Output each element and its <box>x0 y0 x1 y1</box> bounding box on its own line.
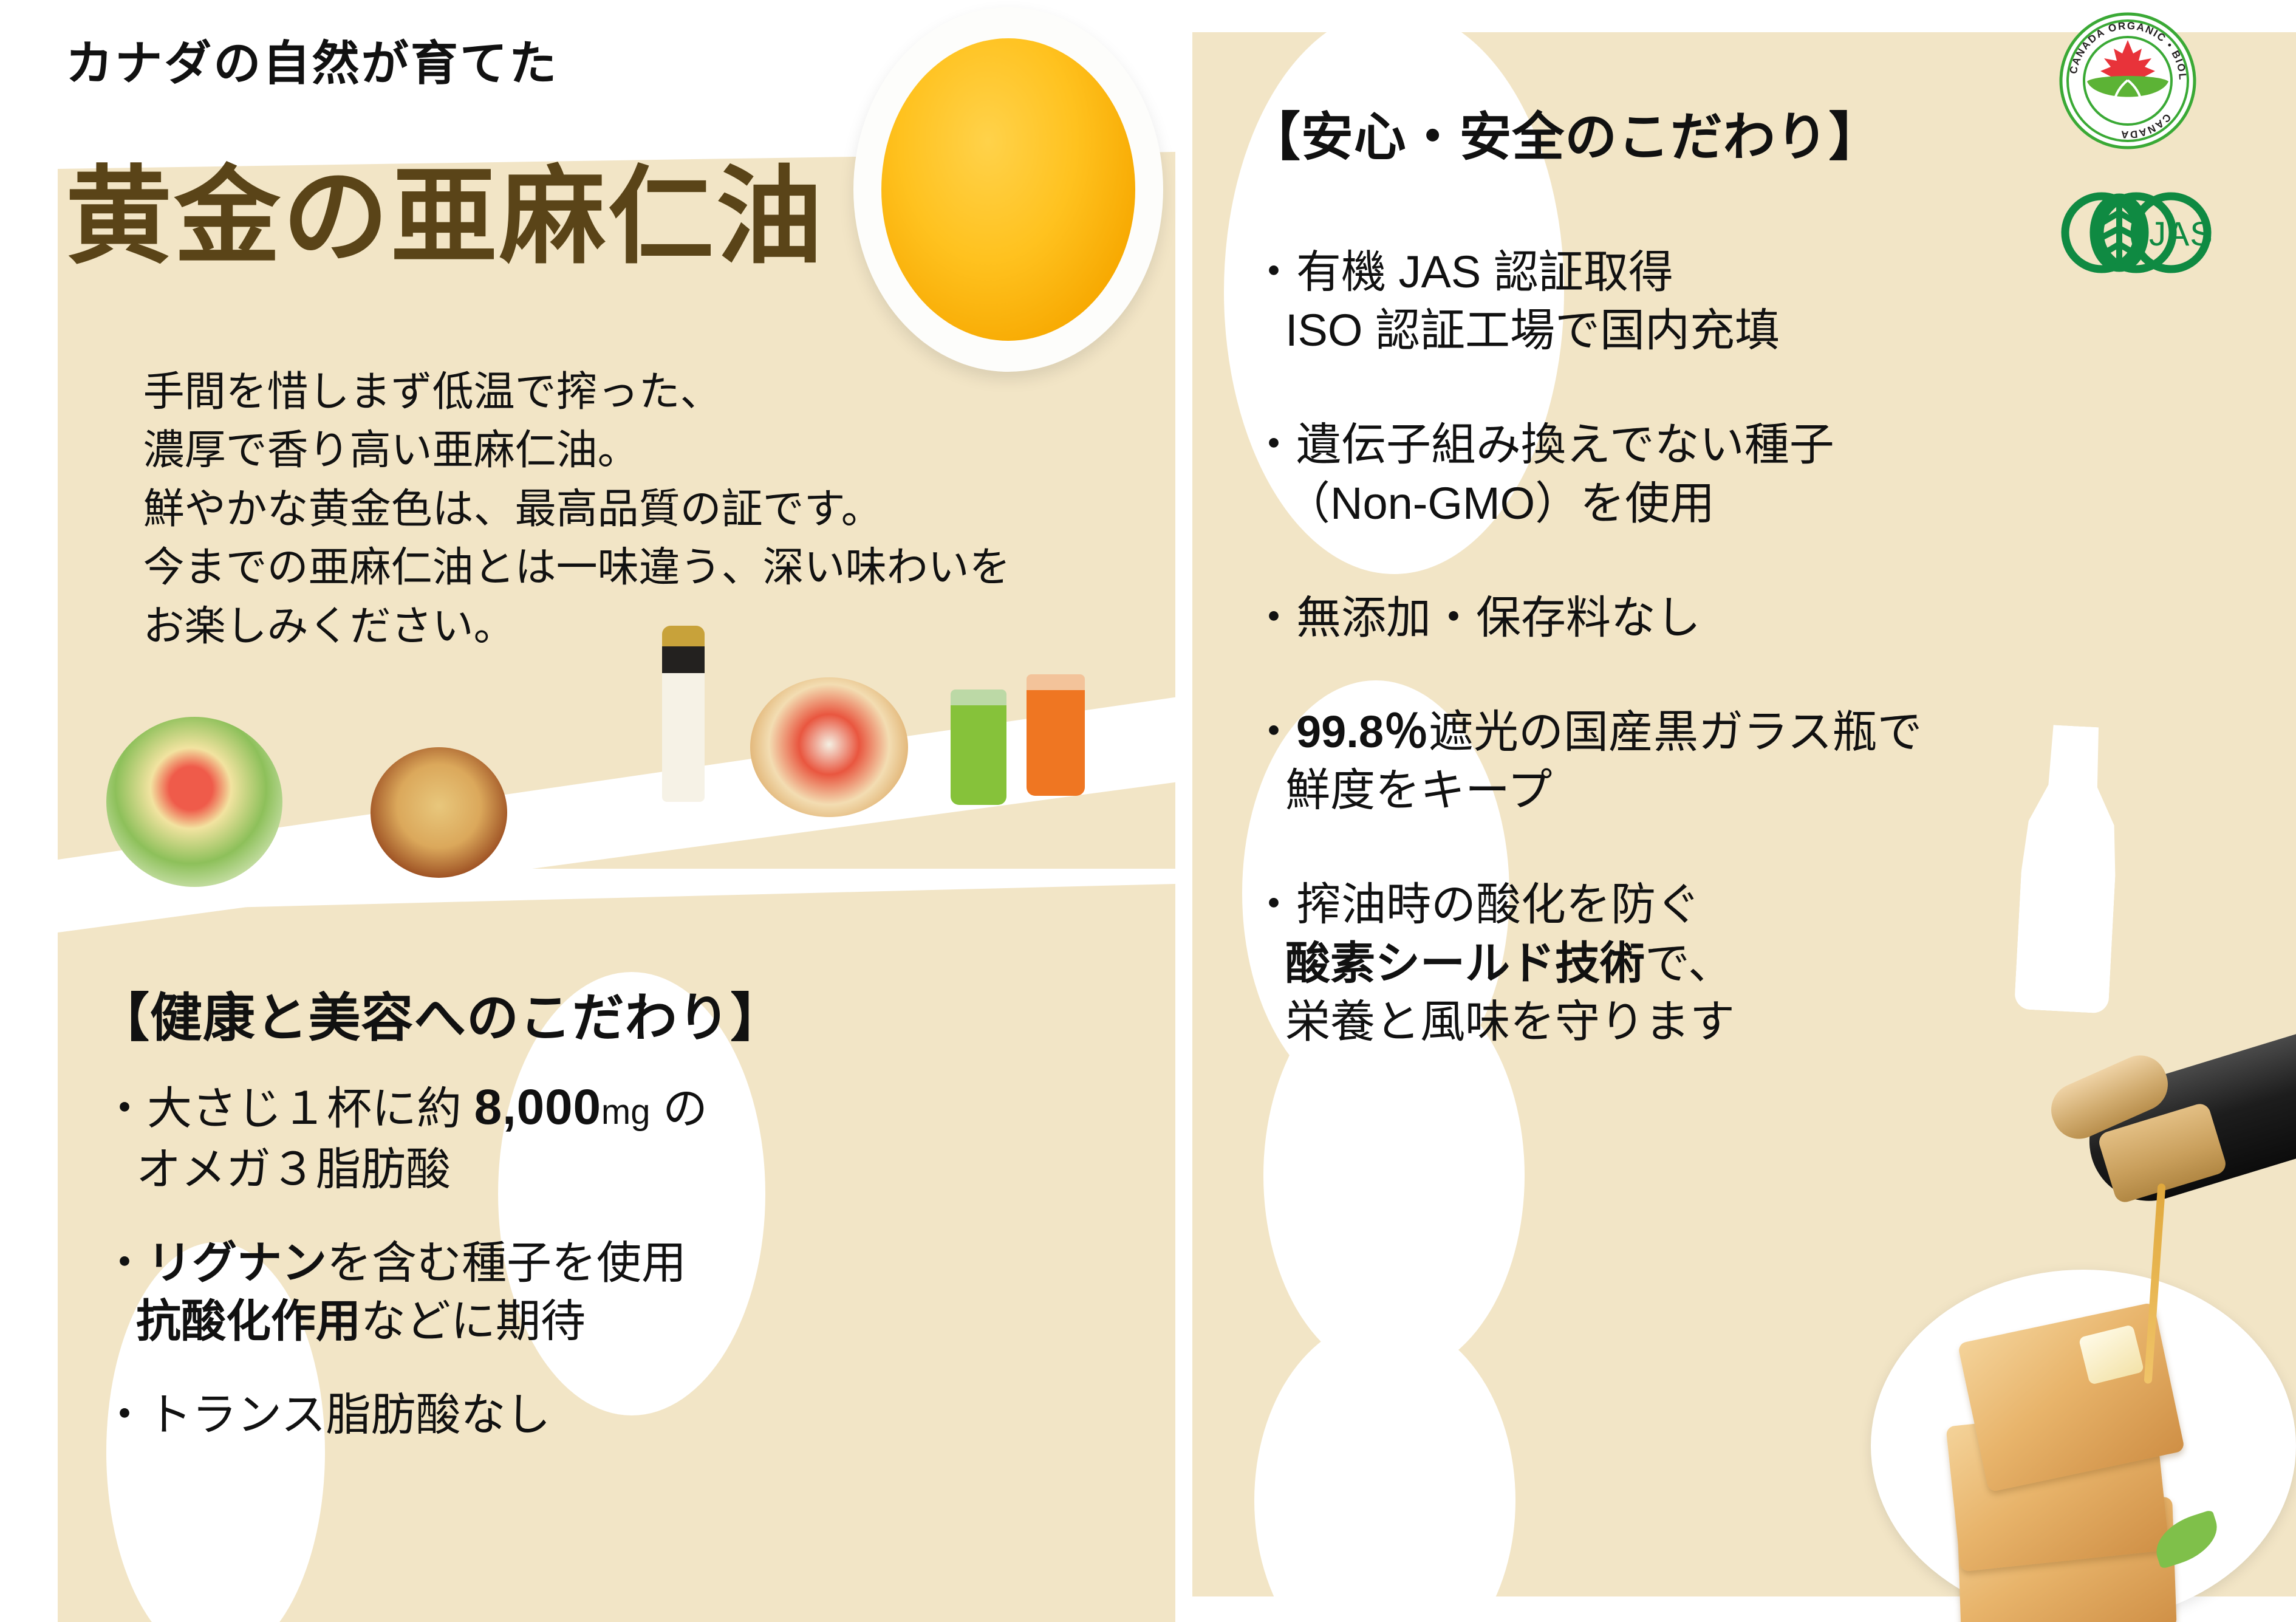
bullet-line: ・99.8％遮光の国産黒ガラス瓶で <box>1251 703 2284 761</box>
bullet-text: を含む種子を使用 <box>327 1237 686 1288</box>
miso-soup-bowl-photo <box>371 747 507 878</box>
bullet-line: 鮮度をキープ <box>1251 761 2284 820</box>
list-item: ・遺伝子組み換えでない種子 （Non-GMO）を使用 <box>1251 416 2284 532</box>
lede-line: 手間を惜しまず低温で搾った、 <box>143 369 722 415</box>
carrot-juice-photo <box>1027 674 1085 796</box>
thyme-leaf <box>1029 68 1055 89</box>
bullet-line: ・大さじ１杯に約 8,000mg の <box>102 1075 1135 1140</box>
pouring-bottle-photo <box>2032 1045 2296 1227</box>
bullet-marker: ・ <box>1251 707 1296 757</box>
list-item: ・リグナンを含む種子を使用 抗酸化作用などに期待 <box>102 1234 1135 1350</box>
jas-label: JAS <box>2149 214 2212 253</box>
antioxidant-emphasis: 抗酸化作用 <box>136 1296 361 1346</box>
bullet-line: 抗酸化作用などに期待 <box>102 1292 1135 1350</box>
lignan-emphasis: リグナン <box>147 1237 327 1288</box>
thyme-leaf <box>1001 113 1030 131</box>
thyme-stem <box>940 169 999 243</box>
omega3-unit: mg <box>601 1092 651 1132</box>
poster-canvas: カナダの自然が育てた 黄金の亜麻仁油 手間を惜しまず低温で搾った、 濃厚で香り高… <box>0 0 2296 1622</box>
bullet-line: 栄養と風味を守ります <box>1251 993 2284 1051</box>
bullet-line: ・トランス脂肪酸なし <box>102 1386 1135 1444</box>
thyme-leaf <box>905 229 938 248</box>
lede-line: 濃厚で香り高い亜麻仁油。 <box>143 427 639 473</box>
light-block-percent: 99.8％ <box>1296 707 1429 757</box>
bullet-line: ISO 認証工場で国内充填 <box>1251 301 2284 360</box>
bullet-line: ・搾油時の酸化を防ぐ <box>1251 875 2284 934</box>
page-title: 黄金の亜麻仁油 <box>66 131 825 284</box>
list-item: ・大さじ１杯に約 8,000mg の オメガ３脂肪酸 <box>102 1075 1135 1199</box>
omega3-amount: 8,000 <box>474 1080 601 1135</box>
bullet-line: ・無添加・保存料なし <box>1251 589 2284 647</box>
bullet-text: ・大さじ１杯に約 <box>102 1083 474 1134</box>
bullet-line: ・リグナンを含む種子を使用 <box>102 1234 1135 1292</box>
lede-line: 今までの亜麻仁油とは一味違う、深い味わいを <box>143 544 1011 590</box>
lede-line: 鮮やかな黄金色は、最高品質の証です。 <box>143 486 883 532</box>
salad-bowl-photo <box>106 717 282 887</box>
kicker-text: カナダの自然が育てた <box>66 26 558 94</box>
bullet-line: （Non-GMO）を使用 <box>1251 474 2284 533</box>
safety-section-heading: 【安心・安全のこだわり】 <box>1248 94 1881 170</box>
canada-organic-seal-icon: CANADA ORGANIC • BIOLOGIQUE CANADA <box>2058 11 2198 151</box>
thyme-leaf <box>958 114 986 129</box>
list-item: ・搾油時の酸化を防ぐ 酸素シールド技術で、 栄養と風味を守ります <box>1251 875 2284 1051</box>
list-item: ・99.8％遮光の国産黒ガラス瓶で 鮮度をキープ <box>1251 703 2284 820</box>
thyme-leaf <box>914 204 946 222</box>
lede-line: お楽しみください。 <box>143 603 515 649</box>
bullet-text: の <box>650 1083 708 1134</box>
safety-bullet-list: ・有機 JAS 認証取得 ISO 認証工場で国内充填 ・遺伝子組み換えでない種子… <box>1251 243 2284 1107</box>
oxygen-shield-emphasis: 酸素シールド技術 <box>1285 938 1645 988</box>
bullet-text: 遮光の国産黒ガラス瓶で <box>1429 707 1922 757</box>
bullet-line: 酸素シールド技術で、 <box>1251 934 2284 993</box>
jas-organic-mark-icon: JAS <box>2060 175 2212 290</box>
bullet-text: で、 <box>1645 938 1733 988</box>
bullet-text: などに期待 <box>361 1296 586 1346</box>
health-section-heading: 【健康と美容へのこだわり】 <box>97 975 783 1051</box>
thyme-leaf <box>949 174 979 194</box>
bullet-line: オメガ３脂肪酸 <box>102 1140 1135 1199</box>
list-item: ・トランス脂肪酸なし <box>102 1386 1135 1444</box>
thyme-stem <box>996 69 1036 153</box>
health-bullet-list: ・大さじ１杯に約 8,000mg の オメガ３脂肪酸 ・リグナンを含む種子を使用… <box>102 1075 1135 1479</box>
lede-paragraph: 手間を惜しまず低温で搾った、 濃厚で香り高い亜麻仁油。 鮮やかな黄金色は、最高品… <box>97 304 1011 714</box>
list-item: ・無添加・保存料なし <box>1251 589 2284 647</box>
bullet-line: ・遺伝子組み換えでない種子 <box>1251 416 2284 474</box>
